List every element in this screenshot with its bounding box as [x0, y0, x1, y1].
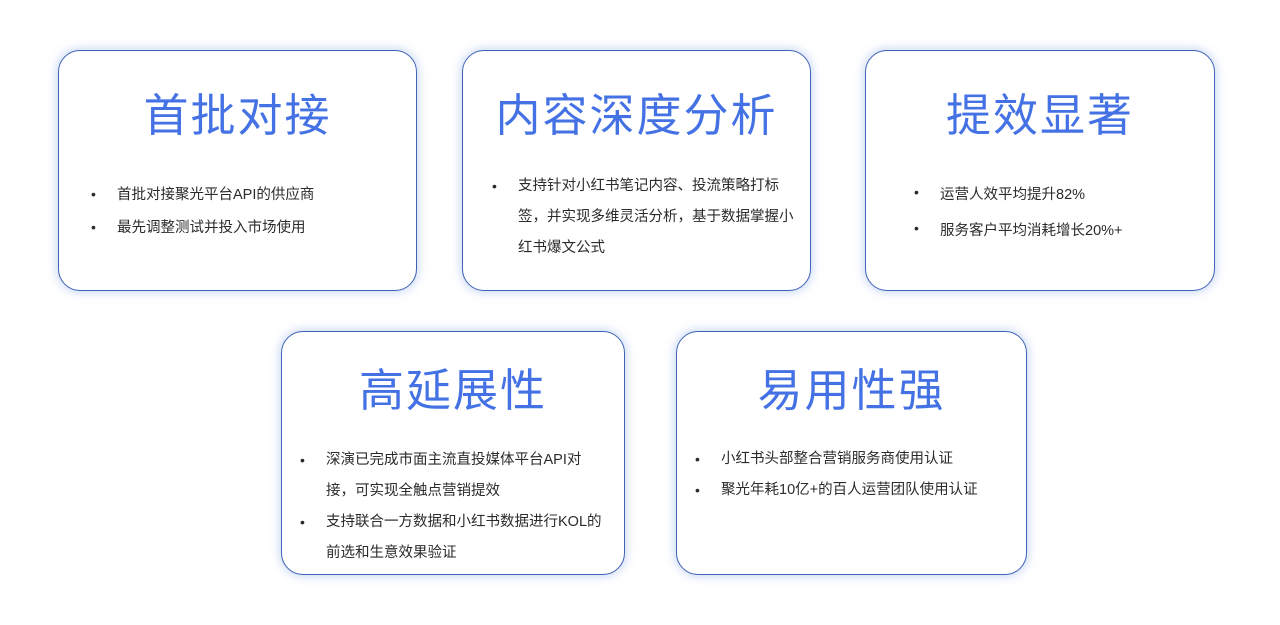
list-item: • 运营人效平均提升82%	[914, 177, 1196, 213]
bullet-point-icon: •	[914, 213, 940, 244]
bullet-text: 最先调整测试并投入市场使用	[117, 212, 398, 245]
feature-card-content-depth-analysis[interactable]: 内容深度分析 • 支持针对小红书笔记内容、投流策略打标签，并实现多维灵活分析，基…	[462, 50, 811, 291]
bullet-point-icon: •	[695, 444, 721, 475]
card-bullet-list: • 运营人效平均提升82% • 服务客户平均消耗增长20%+	[866, 177, 1214, 249]
list-item: • 小红书头部整合营销服务商使用认证	[695, 444, 1012, 475]
bullet-point-icon: •	[91, 212, 117, 243]
card-bullet-list: • 首批对接聚光平台API的供应商 • 最先调整测试并投入市场使用	[59, 179, 416, 245]
bullet-text: 聚光年耗10亿+的百人运营团队使用认证	[721, 475, 1012, 506]
card-title: 首批对接	[143, 90, 331, 142]
bullet-point-icon: •	[91, 179, 117, 210]
bullet-point-icon: •	[492, 171, 518, 202]
card-title: 易用性强	[757, 365, 945, 417]
card-title: 高延展性	[359, 365, 547, 417]
bullet-text: 运营人效平均提升82%	[940, 177, 1196, 213]
bullet-text: 支持联合一方数据和小红书数据进行KOL的前选和生意效果验证	[326, 507, 610, 569]
bullet-text: 服务客户平均消耗增长20%+	[940, 213, 1196, 249]
card-title: 提效显著	[946, 90, 1134, 142]
list-item: • 首批对接聚光平台API的供应商	[91, 179, 398, 212]
feature-card-ease-of-use[interactable]: 易用性强 • 小红书头部整合营销服务商使用认证 • 聚光年耗10亿+的百人运营团…	[676, 331, 1027, 575]
card-bullet-list: • 小红书头部整合营销服务商使用认证 • 聚光年耗10亿+的百人运营团队使用认证	[677, 444, 1026, 506]
bullet-text: 小红书头部整合营销服务商使用认证	[721, 444, 1012, 475]
slide-canvas: 首批对接 • 首批对接聚光平台API的供应商 • 最先调整测试并投入市场使用 内…	[0, 0, 1280, 625]
list-item: • 服务客户平均消耗增长20%+	[914, 213, 1196, 249]
list-item: • 聚光年耗10亿+的百人运营团队使用认证	[695, 475, 1012, 506]
card-title: 内容深度分析	[495, 90, 777, 142]
feature-card-first-integration[interactable]: 首批对接 • 首批对接聚光平台API的供应商 • 最先调整测试并投入市场使用	[58, 50, 417, 291]
bullet-point-icon: •	[914, 177, 940, 208]
bullet-text: 首批对接聚光平台API的供应商	[117, 179, 398, 212]
feature-card-efficiency-gain[interactable]: 提效显著 • 运营人效平均提升82% • 服务客户平均消耗增长20%+	[865, 50, 1215, 291]
bullet-point-icon: •	[695, 475, 721, 506]
card-bullet-list: • 深演已完成市面主流直投媒体平台API对接，可实现全触点营销提效 • 支持联合…	[282, 445, 624, 569]
list-item: • 深演已完成市面主流直投媒体平台API对接，可实现全触点营销提效	[300, 445, 610, 507]
feature-card-high-extensibility[interactable]: 高延展性 • 深演已完成市面主流直投媒体平台API对接，可实现全触点营销提效 •…	[281, 331, 625, 575]
bullet-point-icon: •	[300, 445, 326, 476]
bullet-text: 支持针对小红书笔记内容、投流策略打标签，并实现多维灵活分析，基于数据掌握小红书爆…	[518, 171, 796, 264]
list-item: • 支持针对小红书笔记内容、投流策略打标签，并实现多维灵活分析，基于数据掌握小红…	[492, 171, 796, 264]
card-bullet-list: • 支持针对小红书笔记内容、投流策略打标签，并实现多维灵活分析，基于数据掌握小红…	[463, 171, 810, 264]
list-item: • 最先调整测试并投入市场使用	[91, 212, 398, 245]
bullet-text: 深演已完成市面主流直投媒体平台API对接，可实现全触点营销提效	[326, 445, 610, 507]
bullet-point-icon: •	[300, 507, 326, 538]
list-item: • 支持联合一方数据和小红书数据进行KOL的前选和生意效果验证	[300, 507, 610, 569]
